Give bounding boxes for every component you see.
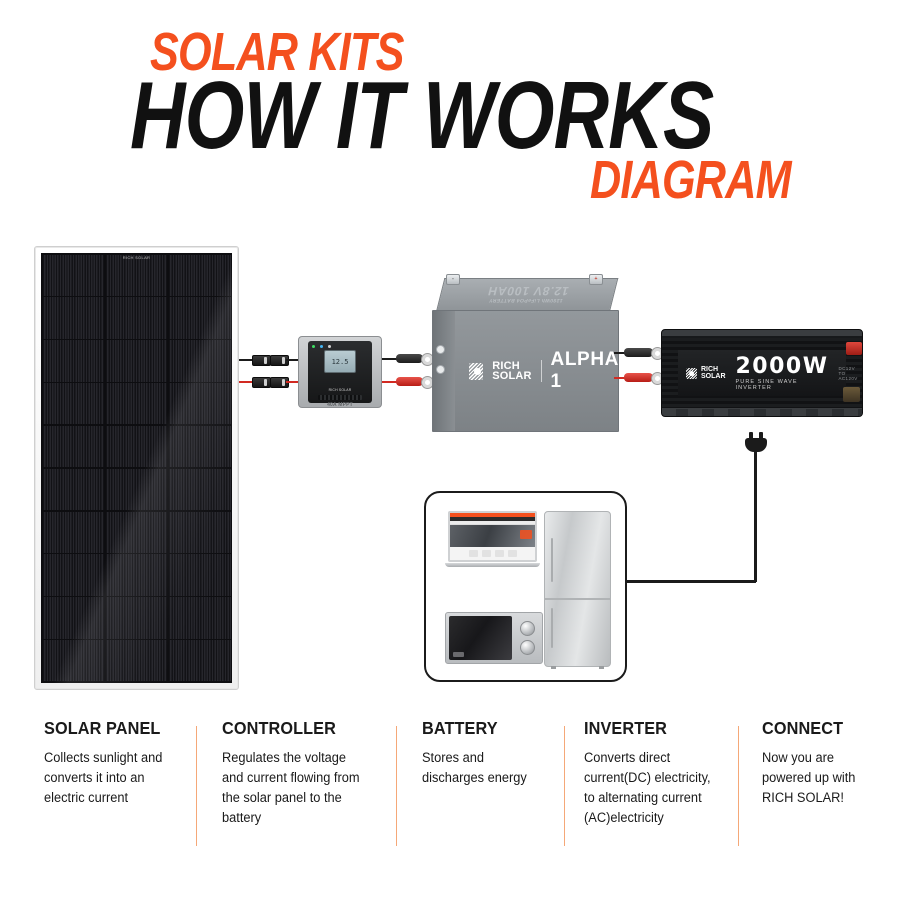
- battery: 1280Wh LiFePO4 BATTERY 12.8V 100AH - + R…: [432, 278, 617, 430]
- charge-controller: 12.5 RICH SOLAR 40A MPPT: [298, 336, 382, 408]
- browser-tile: [469, 550, 478, 557]
- caption-solar-panel: SOLAR PANEL Collects sunlight and conver…: [44, 718, 184, 808]
- solar-cell: [43, 597, 105, 638]
- microwave-knob: [520, 640, 535, 655]
- solar-cell: [169, 340, 231, 381]
- caption-divider: [196, 726, 197, 846]
- controller-model-label: 40A MPPT: [327, 402, 353, 408]
- browser-hero-image: [450, 525, 535, 547]
- fridge-foot: [551, 666, 556, 669]
- solar-cell: [169, 255, 231, 296]
- terminal-mark: +: [595, 276, 598, 282]
- battery-top-labels: 1280Wh LiFePO4 BATTERY 12.8V 100AH: [439, 284, 616, 303]
- microwave-icon: [445, 612, 543, 664]
- battery-mount-hole: [436, 365, 445, 374]
- solar-cell: [169, 469, 231, 510]
- appliances-group: [424, 491, 627, 682]
- inverter-spec-label: DC12V TO AC120V: [839, 366, 858, 381]
- inverter-watt-label: 2000W: [736, 354, 829, 379]
- solar-cell: [106, 383, 168, 424]
- title-sub: DIAGRAM: [590, 156, 838, 206]
- solar-cell: [43, 297, 105, 338]
- laptop-base: [445, 563, 540, 567]
- solar-cell: [106, 469, 168, 510]
- solar-cell: [169, 554, 231, 595]
- inverter-outlet-socket: [843, 387, 860, 402]
- solar-cell: [106, 640, 168, 681]
- caption-body: Converts direct current(DC) electricity,…: [584, 748, 717, 828]
- inverter-branding: RICHSOLAR: [686, 366, 726, 380]
- browser-tile: [482, 550, 491, 557]
- inverter-rating-group: 2000W PURE SINE WAVE INVERTER: [736, 356, 829, 391]
- power-cord-vertical: [754, 450, 757, 582]
- solar-panel-brand: RICH SOLAR: [123, 255, 150, 260]
- controller-brand: RICH SOLAR: [329, 388, 352, 392]
- caption-heading: CONNECT: [762, 718, 874, 739]
- caption-divider: [564, 726, 565, 846]
- rich-solar-logo-icon: [686, 368, 697, 379]
- solar-panel-cells: RICH SOLAR: [41, 253, 232, 683]
- caption-battery: BATTERY Stores and discharges energy: [422, 718, 552, 788]
- rich-solar-logo-icon: [469, 363, 483, 380]
- ring-terminal-negative-inverter-in: [624, 348, 664, 357]
- solar-cell: [43, 255, 105, 296]
- solar-cell: [43, 426, 105, 467]
- status-led-white: [328, 345, 331, 348]
- microwave-control-panel: [515, 616, 539, 660]
- caption-heading: INVERTER: [584, 718, 714, 739]
- ring-terminal-positive-battery-in: [396, 377, 434, 386]
- fridge-door-split: [545, 598, 610, 600]
- diagram-stage: SOLAR KITS HOW IT WORKS DIAGRAM: [0, 0, 900, 900]
- refrigerator-icon: [544, 511, 611, 667]
- solar-cell: [169, 297, 231, 338]
- controller-lcd-display: 12.5: [324, 350, 356, 373]
- solar-cell: [169, 426, 231, 467]
- battery-terminal-negative: -: [446, 274, 460, 285]
- controller-vent: [318, 395, 362, 400]
- solar-cell: [43, 554, 105, 595]
- inverter-ac-terminal: [846, 342, 862, 355]
- lug-body: [396, 377, 423, 386]
- browser-icon-row: [450, 547, 535, 557]
- solar-cell: [169, 383, 231, 424]
- browser-tile: [495, 550, 504, 557]
- microwave-knob: [520, 621, 535, 636]
- inverter: RICHSOLAR 2000W PURE SINE WAVE INVERTER …: [661, 329, 863, 417]
- inverter-subtitle: PURE SINE WAVE INVERTER: [736, 379, 829, 391]
- fridge-handle-upper: [551, 538, 553, 582]
- controller-led-row: [312, 345, 368, 348]
- caption-divider: [396, 726, 397, 846]
- battery-model-label: ALPHA 1: [551, 349, 622, 393]
- battery-body: RICHSOLAR ALPHA 1: [432, 310, 619, 432]
- caption-body: Regulates the voltage and current flowin…: [222, 748, 365, 828]
- solar-cell: [169, 512, 231, 553]
- caption-row: SOLAR PANEL Collects sunlight and conver…: [0, 718, 900, 888]
- battery-voltage-ah: 12.8V 100AH: [440, 284, 615, 298]
- terminal-mark: -: [452, 276, 454, 282]
- battery-brand-label: RICHSOLAR: [492, 361, 532, 382]
- battery-branding: RICHSOLAR ALPHA 1: [469, 349, 621, 393]
- caption-heading: CONTROLLER: [222, 718, 362, 739]
- title-block: SOLAR KITS HOW IT WORKS DIAGRAM: [0, 28, 900, 206]
- ring-terminal-positive-inverter-in: [624, 373, 664, 382]
- solar-cell: [169, 597, 231, 638]
- status-led-green: [312, 345, 315, 348]
- caption-controller: CONTROLLER Regulates the voltage and cur…: [222, 718, 372, 828]
- lug-body: [624, 373, 653, 382]
- page-title: HOW IT WORKS: [130, 72, 746, 160]
- power-cord-horizontal: [627, 580, 756, 583]
- solar-cell: [43, 640, 105, 681]
- inverter-faceplate: RICHSOLAR 2000W PURE SINE WAVE INVERTER …: [678, 350, 846, 396]
- solar-cell: [106, 426, 168, 467]
- inverter-brand-label: RICHSOLAR: [701, 366, 726, 380]
- solar-cell: [106, 597, 168, 638]
- solar-cell: [106, 512, 168, 553]
- lug-body: [396, 354, 423, 363]
- caption-body: Stores and discharges energy: [422, 748, 546, 788]
- solar-cell: [43, 469, 105, 510]
- caption-heading: BATTERY: [422, 718, 543, 739]
- caption-body: Now you are powered up with RICH SOLAR!: [762, 748, 876, 808]
- mc4-connector-positive-a: [252, 377, 271, 388]
- solar-cell: [106, 255, 168, 296]
- mc4-connector-negative-a: [252, 355, 271, 366]
- brand-divider: [541, 360, 542, 382]
- browser-tile: [508, 550, 517, 557]
- microwave-door: [449, 616, 512, 660]
- battery-terminal-positive: +: [589, 274, 603, 285]
- caption-body: Collects sunlight and converts it into a…: [44, 748, 177, 808]
- solar-cell: [106, 554, 168, 595]
- inverter-feet: [662, 409, 862, 416]
- solar-panel: RICH SOLAR: [34, 246, 239, 690]
- solar-cell: [43, 512, 105, 553]
- fridge-foot: [599, 666, 604, 669]
- solar-cell: [43, 383, 105, 424]
- caption-connect: CONNECT Now you are powered up with RICH…: [762, 718, 882, 808]
- status-led-blue: [320, 345, 323, 348]
- battery-mount-hole: [436, 345, 445, 354]
- laptop-icon: [445, 511, 540, 569]
- solar-cell: [106, 340, 168, 381]
- lug-body: [624, 348, 653, 357]
- laptop-screen: [448, 511, 537, 562]
- ring-terminal-negative-battery-in: [396, 354, 434, 363]
- solar-cell: [169, 640, 231, 681]
- caption-divider: [738, 726, 739, 846]
- solar-cell: [106, 297, 168, 338]
- caption-heading: SOLAR PANEL: [44, 718, 174, 739]
- fridge-handle-lower: [551, 608, 553, 648]
- solar-cell: [43, 340, 105, 381]
- ac-plug-icon: [745, 432, 767, 452]
- controller-faceplate: 12.5 RICH SOLAR: [308, 341, 372, 403]
- caption-inverter: INVERTER Converts direct current(DC) ele…: [584, 718, 724, 828]
